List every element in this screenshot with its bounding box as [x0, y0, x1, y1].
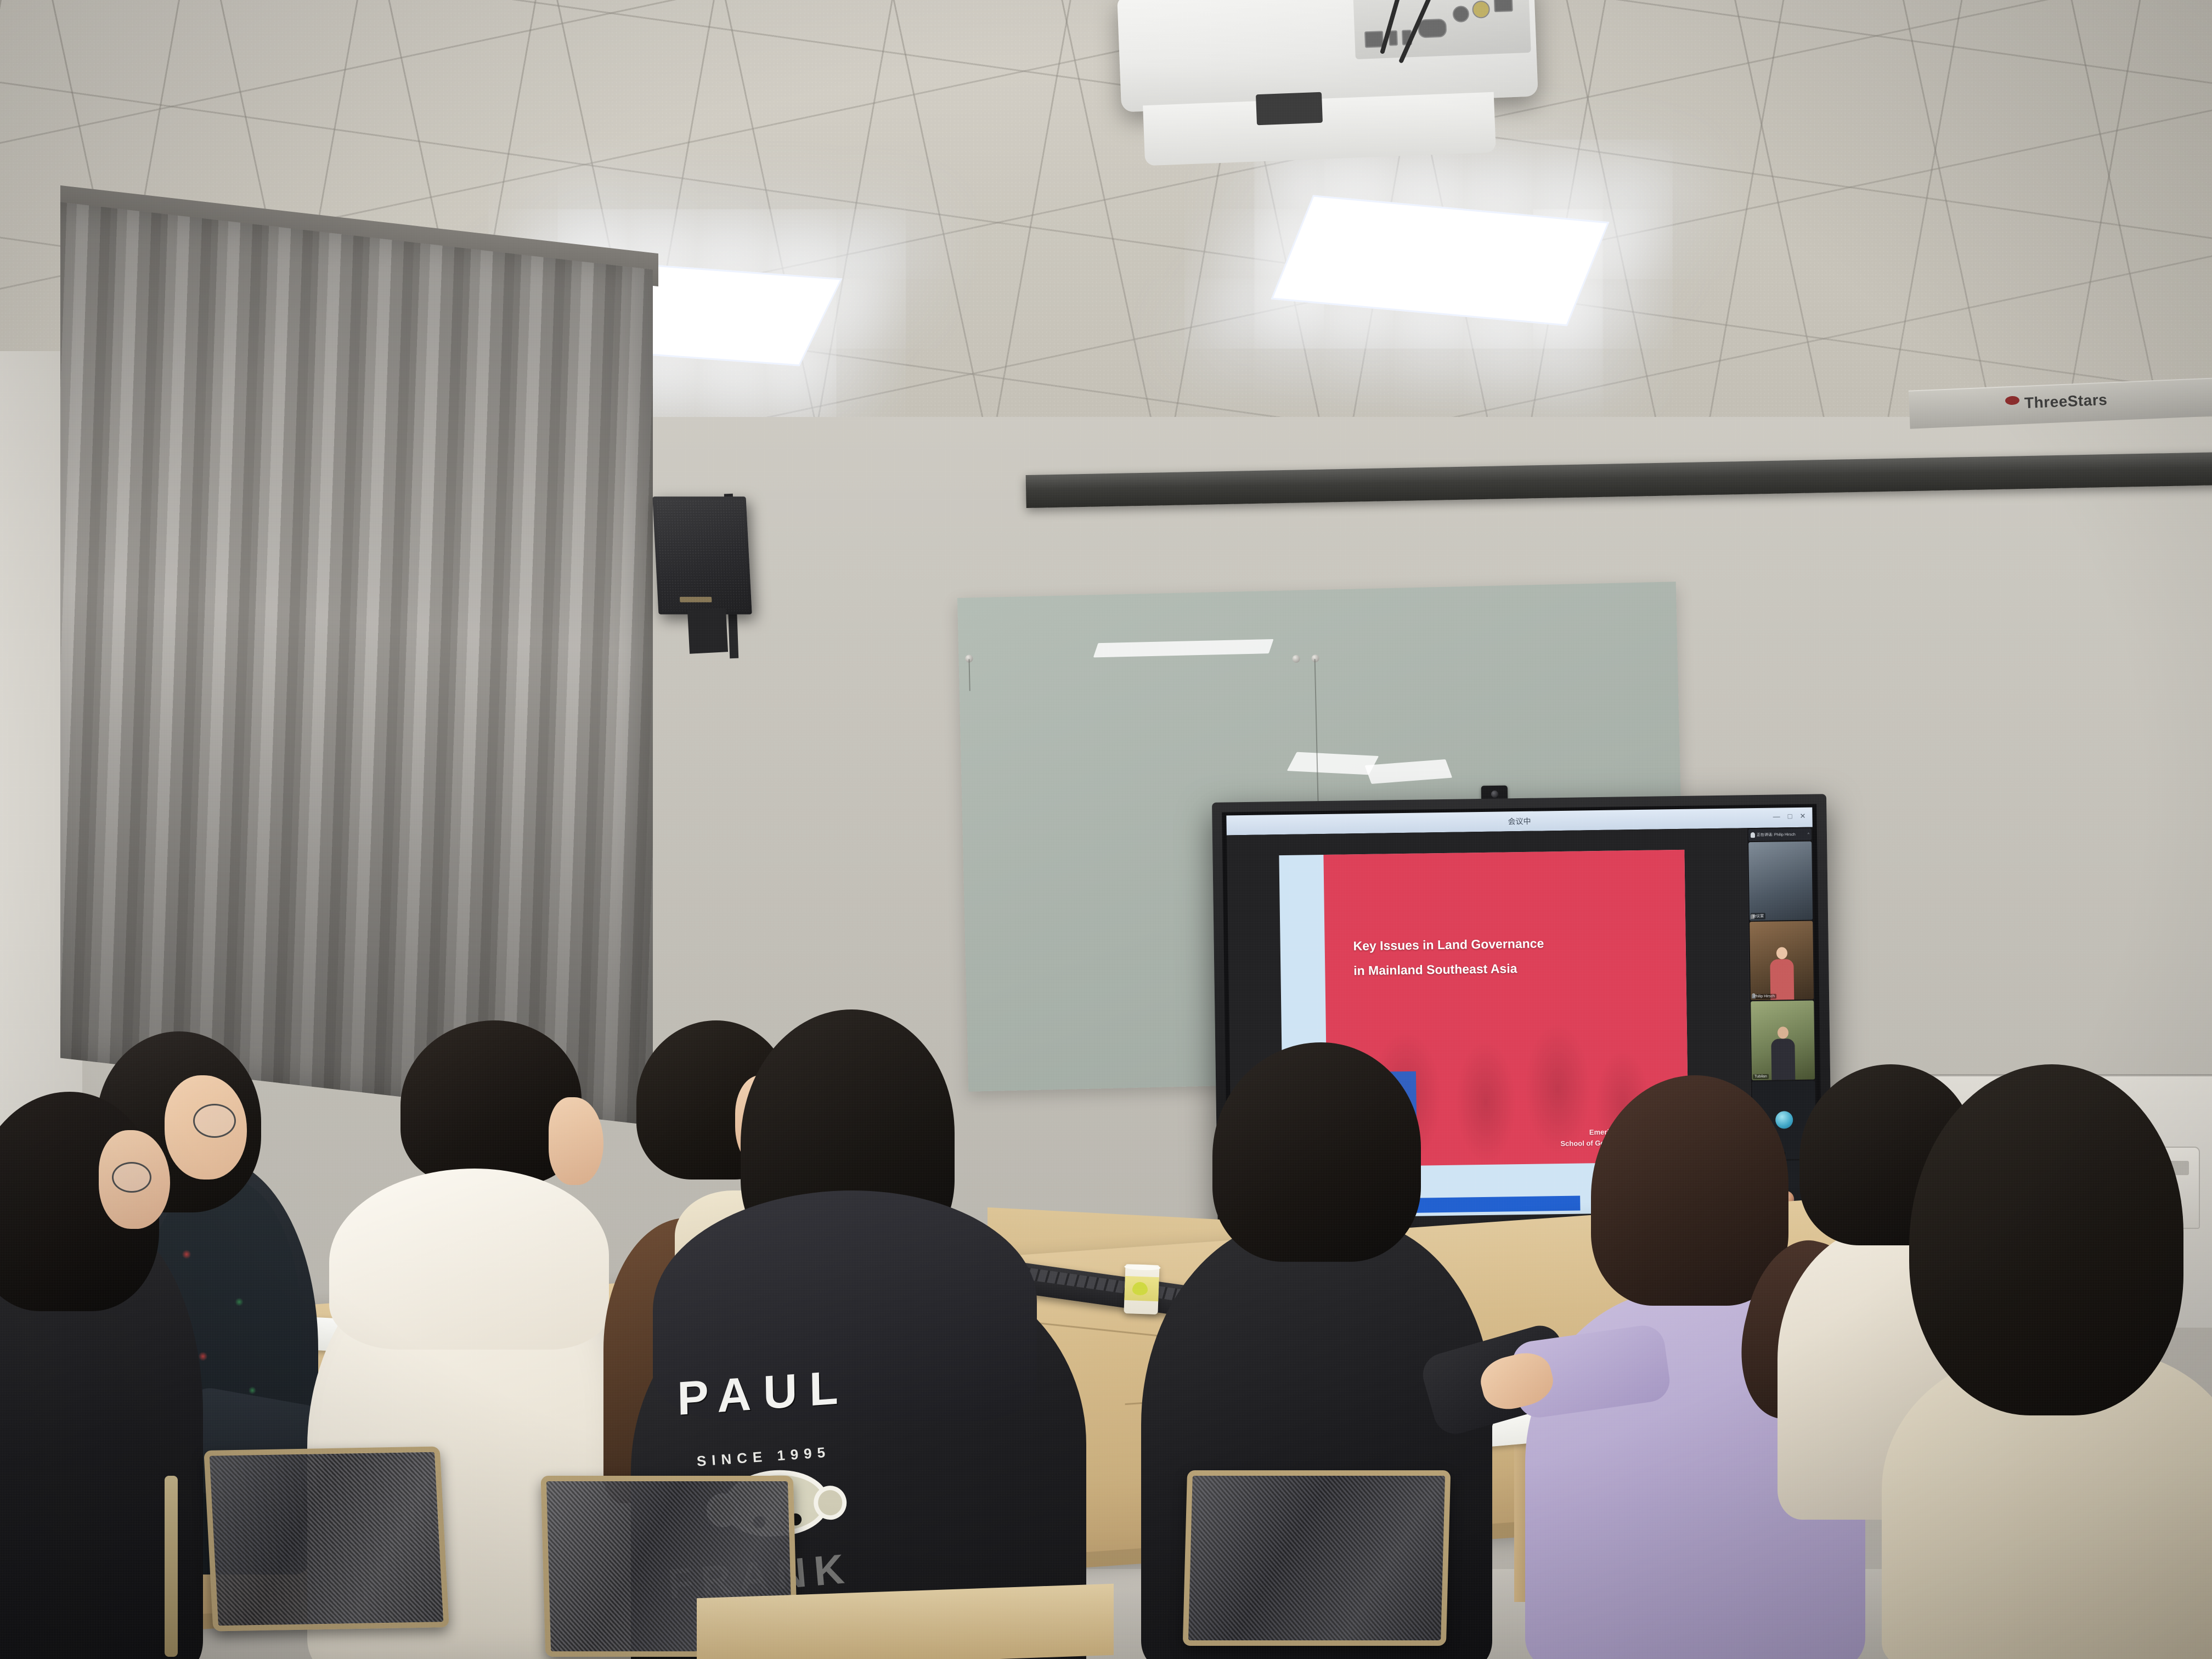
speaker-bracket: [687, 608, 728, 654]
video-tile-name: Tubilan: [1753, 1074, 1769, 1079]
chair-leg-left: [165, 1476, 178, 1657]
slide-title-line-2: in Mainland Southeast Asia: [1353, 955, 1638, 983]
curtain-shading: [60, 202, 653, 1125]
chair-left[interactable]: [204, 1446, 449, 1631]
active-speaker-bar: 正在讲话: Philip Hirsch ^: [1748, 828, 1812, 842]
wall-speaker: [652, 496, 752, 614]
slide-title-line-1: Key Issues in Land Governance: [1353, 930, 1637, 958]
paper-cup[interactable]: [1124, 1264, 1159, 1314]
slide-title: Key Issues in Land Governance in Mainlan…: [1353, 930, 1638, 983]
projector-port-panel: [1353, 0, 1531, 59]
whiteboard-wire-1: [968, 659, 970, 691]
projector-lens: [1256, 92, 1323, 126]
whiteboard-bolt-2: [1292, 655, 1300, 663]
whiteboard-reflection-3: [1365, 759, 1453, 784]
window-controls[interactable]: — □ ✕: [1773, 812, 1806, 820]
participant-head: [1777, 1026, 1788, 1039]
close-icon[interactable]: ✕: [1800, 812, 1806, 820]
video-tile-name: 会议室: [1751, 913, 1765, 919]
video-tile-0[interactable]: 会议室: [1748, 842, 1813, 921]
cup-rim: [1124, 1264, 1160, 1271]
chair-center-right[interactable]: [1183, 1470, 1451, 1646]
active-speaker-label: 正在讲话: Philip Hirsch: [1757, 832, 1796, 838]
minimize-icon[interactable]: —: [1773, 812, 1780, 820]
microphone-icon: [1751, 832, 1755, 838]
chair-sheen: [1188, 1476, 1445, 1640]
participant-avatar: [1775, 1111, 1793, 1128]
chair-sheen: [210, 1452, 443, 1626]
maximize-icon[interactable]: □: [1788, 812, 1792, 820]
app-window-title: 会议中: [1508, 816, 1531, 827]
video-tile-name: Philip Hirsch: [1752, 994, 1776, 1000]
participant-torso: [1771, 1039, 1796, 1080]
threestars-brand-label: ThreeStars: [2024, 391, 2108, 412]
video-tile-2[interactable]: Tubilan: [1751, 1001, 1815, 1080]
chevron-up-icon[interactable]: ^: [1808, 832, 1809, 836]
whiteboard-reflection-2: [1287, 752, 1379, 775]
whiteboard-reflection-1: [1093, 639, 1274, 657]
seminar-room-photo: ThreeStars 会议中 — □ ✕: [0, 0, 2212, 1659]
video-tile-1[interactable]: Philip Hirsch: [1750, 921, 1814, 1001]
participant-head: [1776, 947, 1787, 959]
speaker-brand-badge: [680, 597, 712, 602]
